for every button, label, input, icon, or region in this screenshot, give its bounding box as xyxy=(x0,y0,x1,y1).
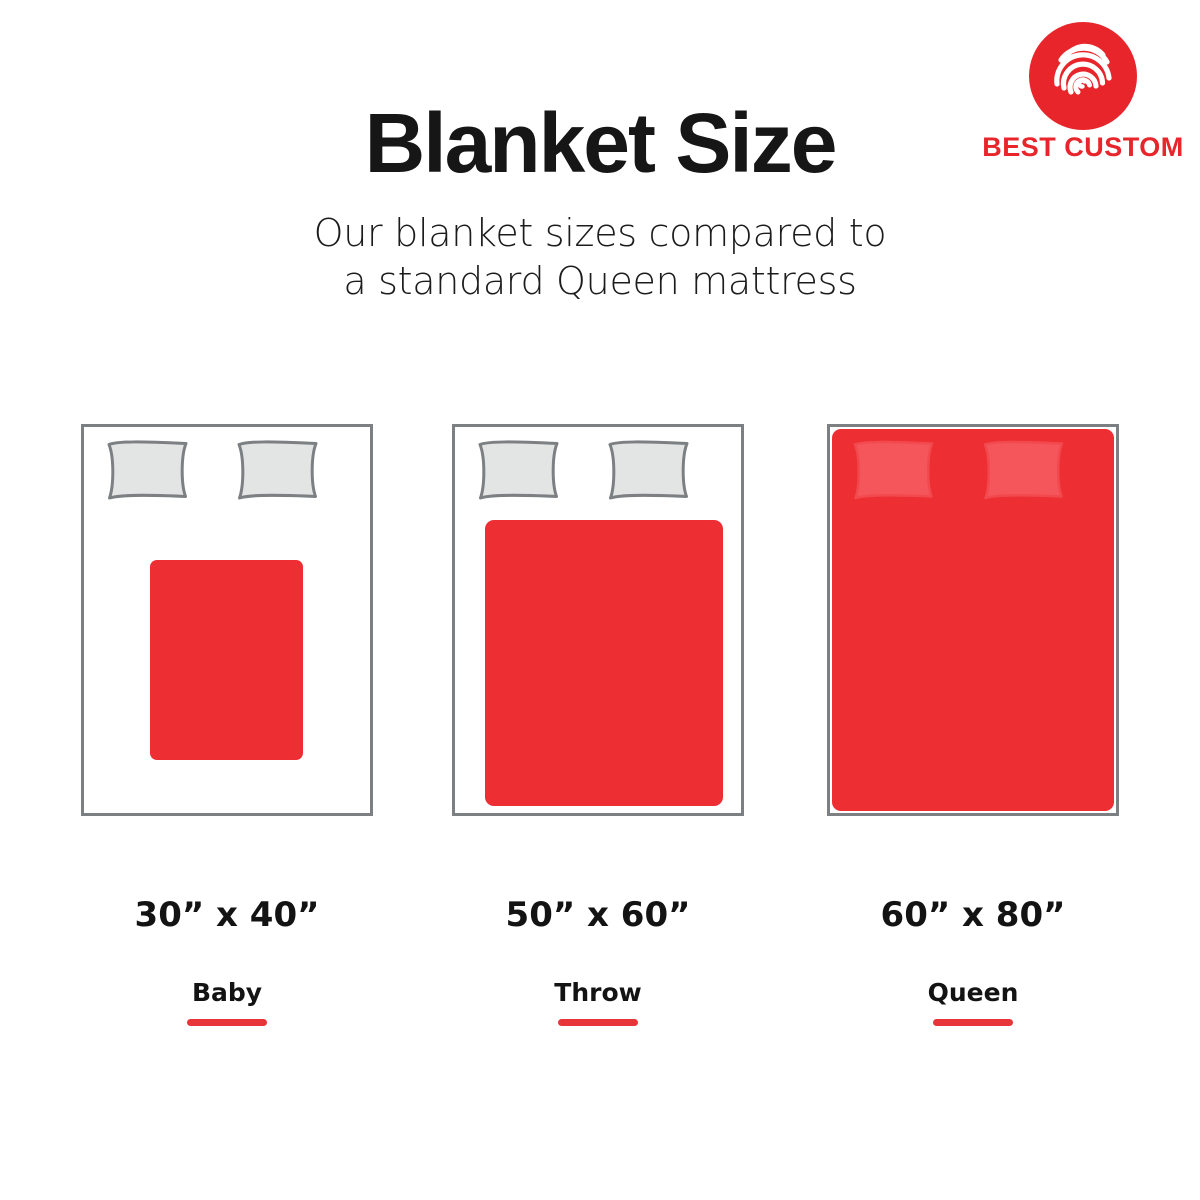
accent-underline xyxy=(558,1019,638,1026)
pillow-icon xyxy=(239,442,316,498)
blanket-shape-throw xyxy=(485,520,723,806)
pillow-icon xyxy=(610,442,687,498)
dimensions-label: 50” x 60” xyxy=(452,898,744,932)
accent-underline xyxy=(187,1019,267,1026)
blanket-shape-baby xyxy=(150,560,303,760)
bed-diagram-throw xyxy=(452,424,744,816)
page-title: Blanket Size xyxy=(0,98,1200,189)
page-subtitle: Our blanket sizes compared to a standard… xyxy=(0,209,1200,306)
dimensions-label: 60” x 80” xyxy=(827,898,1119,932)
size-name-label: Queen xyxy=(827,980,1119,1005)
pillow-icon xyxy=(109,442,186,498)
heading-block: Blanket Size Our blanket sizes compared … xyxy=(0,98,1200,306)
pillow-icon xyxy=(480,442,557,498)
infographic-page: BEST CUSTOM Blanket Size Our blanket siz… xyxy=(0,0,1200,1200)
caption-throw: 50” x 60” Throw xyxy=(452,898,744,1026)
bed-diagram-queen xyxy=(827,424,1119,816)
pillow-icon xyxy=(985,442,1062,498)
bed-throw-svg xyxy=(452,424,744,816)
caption-queen: 60” x 80” Queen xyxy=(827,898,1119,1026)
size-name-label: Baby xyxy=(81,980,373,1005)
subtitle-line-1: Our blanket sizes compared to xyxy=(0,209,1200,258)
bed-queen-svg xyxy=(827,424,1119,816)
caption-baby: 30” x 40” Baby xyxy=(81,898,373,1026)
bed-baby-svg xyxy=(81,424,373,816)
bed-comparison-row xyxy=(0,424,1200,816)
dimensions-label: 30” x 40” xyxy=(81,898,373,932)
size-name-label: Throw xyxy=(452,980,744,1005)
bed-diagram-baby xyxy=(81,424,373,816)
accent-underline xyxy=(933,1019,1013,1026)
pillow-icon xyxy=(855,442,932,498)
subtitle-line-2: a standard Queen mattress xyxy=(0,257,1200,306)
